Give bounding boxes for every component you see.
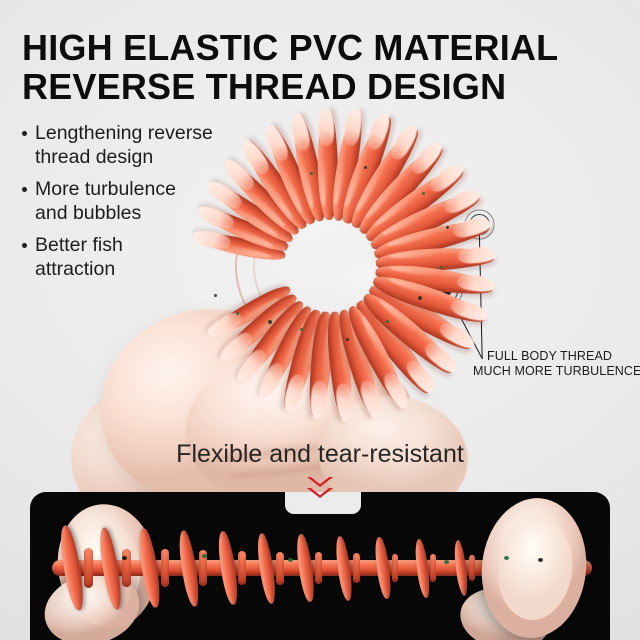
stretched-lure-rib — [430, 554, 436, 581]
lure-glitter-speck — [386, 320, 389, 323]
stretched-lure-rib — [276, 552, 283, 585]
lure-glitter-speck — [538, 558, 543, 562]
callout-annotation: FULL BODY THREAD MUCH MORE TURBULENCE — [487, 349, 637, 379]
stretched-lure-rib — [469, 555, 475, 581]
lure-glitter-speck — [300, 328, 303, 331]
lure-glitter-speck — [122, 556, 127, 560]
double-chevron-down-icon — [307, 477, 335, 507]
lure-glitter-speck — [418, 296, 422, 300]
lure-glitter-speck — [370, 555, 375, 559]
lure-glitter-speck — [214, 294, 217, 297]
caption-flexible: Flexible and tear-resistant — [0, 440, 640, 469]
product-photo-coiled-lure — [0, 96, 640, 466]
lure-glitter-speck — [346, 338, 349, 341]
lure-glitter-speck — [202, 554, 207, 558]
lure-glitter-speck — [446, 226, 449, 229]
lure-glitter-speck — [288, 558, 293, 562]
stretched-lure-panel — [30, 492, 610, 640]
lure-glitter-speck — [364, 166, 367, 169]
callout-line-1: FULL BODY THREAD — [487, 349, 637, 364]
callout-line-2: MUCH MORE TURBULENCE — [473, 364, 637, 379]
lure-glitter-speck — [504, 556, 509, 560]
stretched-lure-rib — [353, 553, 360, 583]
lure-glitter-speck — [444, 560, 449, 564]
page-title: HIGH ELASTIC PVC MATERIAL REVERSE THREAD… — [22, 28, 622, 106]
stretched-lure-rib — [392, 554, 398, 583]
headline-line-1: HIGH ELASTIC PVC MATERIAL — [22, 28, 622, 67]
lure-glitter-speck — [440, 266, 443, 269]
stretched-lure-rib — [122, 549, 131, 588]
lure-glitter-speck — [310, 172, 313, 175]
stretched-lure-rib — [161, 549, 169, 586]
stretched-lure-rib — [84, 548, 93, 588]
product-infographic: HIGH ELASTIC PVC MATERIAL REVERSE THREAD… — [0, 0, 640, 640]
stretched-lure-rib — [238, 551, 246, 585]
lure-glitter-speck — [268, 320, 272, 324]
lure-glitter-speck — [422, 192, 425, 195]
lure-glitter-speck — [236, 312, 239, 315]
stretched-lure-rib — [315, 552, 322, 584]
